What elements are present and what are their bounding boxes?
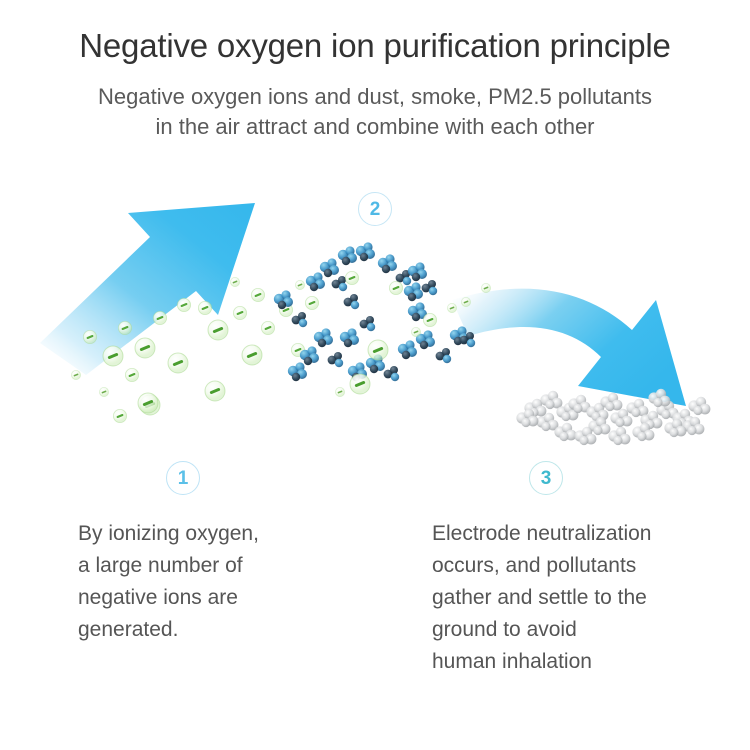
step-3-line-1: Electrode neutralization	[432, 518, 732, 550]
step-3-line-5: human inhalation	[432, 646, 732, 678]
step-badge-2: 2	[358, 192, 392, 226]
step-1-line-4: generated.	[78, 614, 398, 646]
step-1-description: By ionizing oxygen, a large number of ne…	[78, 518, 398, 646]
step-3-description: Electrode neutralization occurs, and pol…	[432, 518, 732, 678]
step-1-line-2: a large number of	[78, 550, 398, 582]
step-badge-3-number: 3	[541, 469, 552, 488]
subtitle-line-1: Negative oxygen ions and dust, smoke, PM…	[0, 82, 750, 112]
step-3-line-4: ground to avoid	[432, 614, 732, 646]
step-1-line-3: negative ions are	[78, 582, 398, 614]
page-title: Negative oxygen ion purification princip…	[0, 26, 750, 66]
right-arrow-graphic	[452, 289, 686, 406]
step-badge-1: 1	[166, 461, 200, 495]
pollutant-ion-cluster	[274, 242, 491, 396]
step-badge-3: 3	[529, 461, 563, 495]
step-badge-2-number: 2	[370, 200, 381, 219]
step-3-line-3: gather and settle to the	[432, 582, 732, 614]
page-subtitle: Negative oxygen ions and dust, smoke, PM…	[0, 82, 750, 142]
step-3-line-2: occurs, and pollutants	[432, 550, 732, 582]
subtitle-line-2: in the air attract and combine with each…	[0, 112, 750, 142]
step-badge-1-number: 1	[178, 469, 189, 488]
step-1-line-1: By ionizing oxygen,	[78, 518, 398, 550]
infographic-canvas: Negative oxygen ion purification princip…	[0, 0, 750, 750]
